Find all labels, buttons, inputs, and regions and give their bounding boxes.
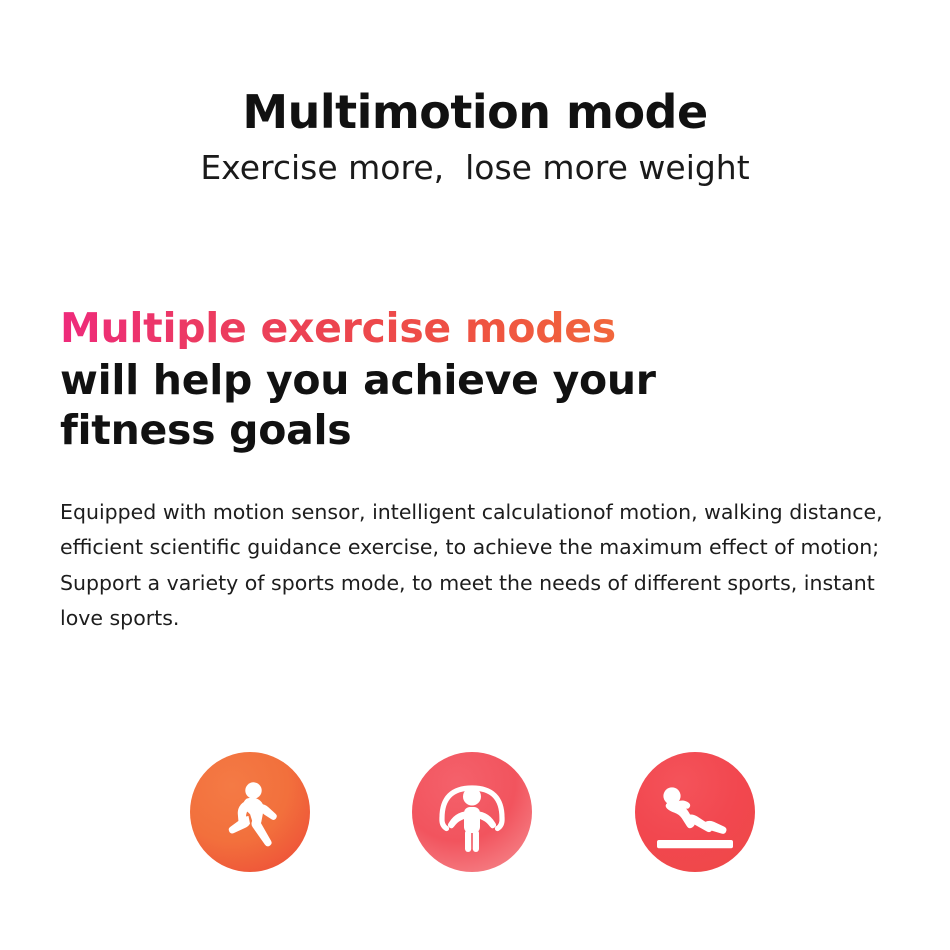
gradient-heading: Multiple exercise modes: [60, 308, 616, 349]
sit-up-icon: [635, 752, 755, 872]
content-block: Multiple exercise modes will help you ac…: [60, 308, 890, 636]
promo-page: Multimotion mode Exercise more, lose mor…: [0, 0, 950, 950]
jump-rope-icon: [412, 752, 532, 872]
jump-rope-icon-badge[interactable]: [412, 752, 532, 872]
sit-up-icon-badge[interactable]: [635, 752, 755, 872]
exercise-mode-icon-row: [0, 752, 950, 882]
body-paragraph: Equipped with motion sensor, intelligent…: [60, 495, 888, 636]
section-heading: will help you achieve your fitness goals: [60, 355, 700, 455]
page-title: Multimotion mode: [0, 88, 950, 136]
running-icon-badge[interactable]: [190, 752, 310, 872]
header-block: Multimotion mode Exercise more, lose mor…: [0, 88, 950, 187]
page-subtitle: Exercise more, lose more weight: [0, 150, 950, 186]
gradient-heading-wrap: Multiple exercise modes: [60, 308, 890, 349]
running-icon: [190, 752, 310, 872]
